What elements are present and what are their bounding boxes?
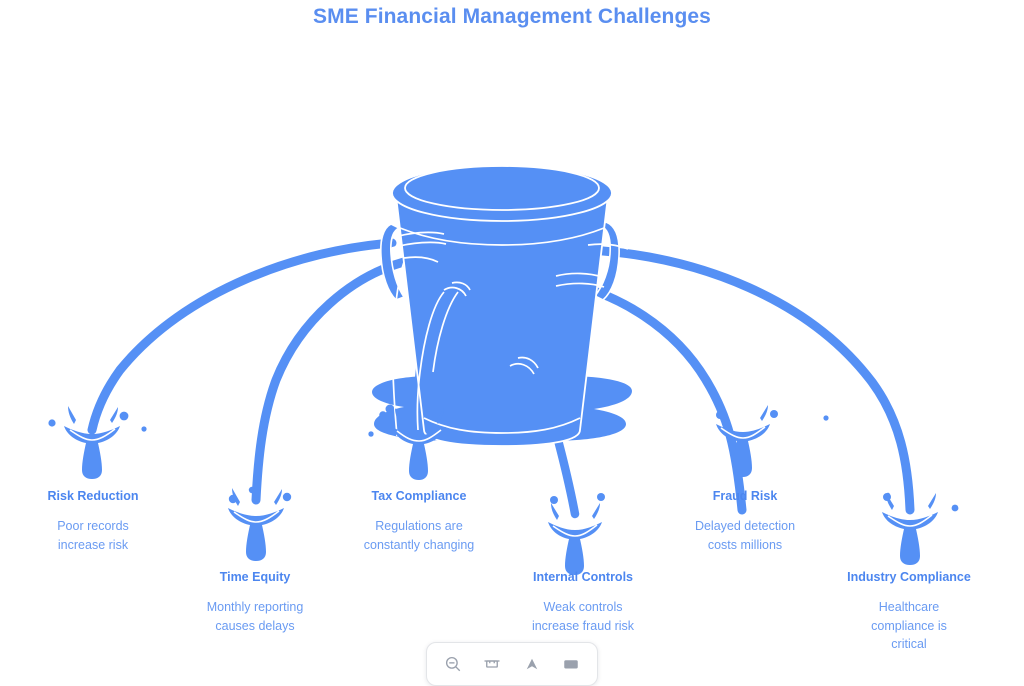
- leaky-bucket-illustration: [0, 0, 1024, 662]
- leak-desc-line: Healthcare: [828, 598, 990, 617]
- bucket-band-line: [400, 228, 604, 245]
- splash-risk-reduction: [48, 406, 146, 479]
- water-arc-risk-reduction: [92, 243, 392, 430]
- leak-desc-line: increase risk: [12, 536, 174, 555]
- splash-internal-controls: [548, 493, 605, 575]
- leak-desc-line: Delayed detection: [664, 517, 826, 536]
- splash-tax-compliance: [368, 408, 446, 480]
- bucket: [381, 165, 619, 446]
- leak-desc-line: increase fraud risk: [502, 617, 664, 636]
- leak-stream-tax-compliance: [417, 292, 458, 430]
- water-arc-time-equity: [256, 262, 404, 500]
- ruler-icon[interactable]: [478, 650, 506, 678]
- leak-stream-time-equity: [393, 262, 404, 436]
- water-arc-industry-compliance: [588, 250, 910, 510]
- leak-desc-line: Poor records: [12, 517, 174, 536]
- leak-description: Weak controls increase fraud risk: [502, 598, 664, 635]
- leak-title: Industry Compliance: [828, 569, 990, 585]
- leak-label-internal-controls[interactable]: Internal Controls Weak controls increase…: [502, 569, 664, 635]
- leak-description: Poor records increase risk: [12, 517, 174, 554]
- leak-title: Risk Reduction: [12, 488, 174, 504]
- leak-title: Internal Controls: [502, 569, 664, 585]
- leak-title: Fraud Risk: [664, 488, 826, 504]
- splash-fraud-risk: [716, 405, 829, 477]
- leak-stream-outlines: [392, 232, 628, 374]
- leak-label-fraud-risk[interactable]: Fraud Risk Delayed detection costs milli…: [664, 488, 826, 554]
- leak-title: Tax Compliance: [338, 488, 500, 504]
- leak-description: Healthcare compliance is critical: [828, 598, 990, 654]
- water-arc-tax-compliance: [418, 288, 452, 432]
- leak-label-risk-reduction[interactable]: Risk Reduction Poor records increase ris…: [12, 488, 174, 554]
- splash-industry-compliance: [882, 493, 958, 565]
- leak-desc-line: Regulations are: [338, 517, 500, 536]
- water-arc-internal-controls: [518, 363, 575, 514]
- leak-desc-line: causes delays: [174, 617, 336, 636]
- leak-desc-line: costs millions: [664, 536, 826, 555]
- leak-title: Time Equity: [174, 569, 336, 585]
- leak-desc-line: Monthly reporting: [174, 598, 336, 617]
- bucket-rim-outer: [392, 165, 612, 221]
- zoom-out-icon[interactable]: [439, 650, 467, 678]
- leak-label-tax-compliance[interactable]: Tax Compliance Regulations are constantl…: [338, 488, 500, 554]
- splash-time-equity: [228, 487, 291, 561]
- leak-description: Delayed detection costs millions: [664, 517, 826, 554]
- bucket-rim-inner: [405, 166, 599, 210]
- bucket-handle-left: [381, 224, 404, 300]
- leak-desc-line: compliance is: [828, 617, 990, 636]
- leak-label-industry-compliance[interactable]: Industry Compliance Healthcare complianc…: [828, 569, 990, 654]
- leak-desc-line: Weak controls: [502, 598, 664, 617]
- page-title: SME Financial Management Challenges: [0, 4, 1024, 30]
- rectangle-icon[interactable]: [557, 650, 585, 678]
- water-arc-fraud-risk: [556, 281, 742, 510]
- bucket-handle-right: [595, 222, 619, 300]
- bottom-toolbar[interactable]: [426, 642, 598, 686]
- leak-desc-line: critical: [828, 635, 990, 654]
- pen-icon[interactable]: [518, 650, 546, 678]
- bucket-body: [396, 196, 608, 446]
- bucket-puddle: [368, 376, 632, 441]
- leak-desc-line: constantly changing: [338, 536, 500, 555]
- leak-description: Regulations are constantly changing: [338, 517, 500, 554]
- bucket-bottom-contour: [424, 418, 580, 433]
- water-arcs: [92, 243, 910, 514]
- leak-description: Monthly reporting causes delays: [174, 598, 336, 635]
- diagram-canvas: SME Financial Management Challenges: [0, 0, 1024, 662]
- leak-label-time-equity[interactable]: Time Equity Monthly reporting causes del…: [174, 569, 336, 635]
